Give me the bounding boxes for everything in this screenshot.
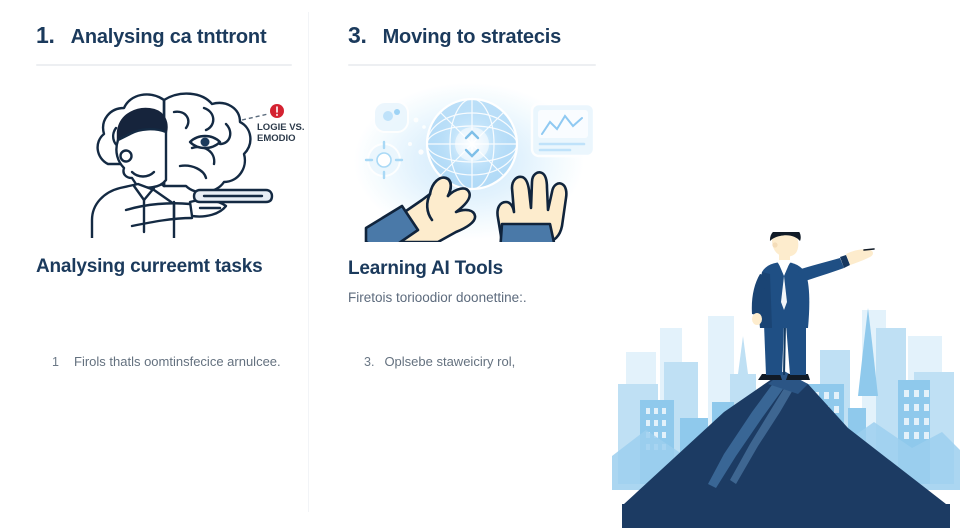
businessman-on-mountain-illustration bbox=[612, 0, 960, 528]
gear-chip-icon bbox=[366, 142, 402, 178]
heading-title: Analysing ca tnttront bbox=[71, 26, 267, 49]
column-analysing-tasks: 1. Analysing ca tnttront bbox=[14, 0, 308, 528]
heading-rule bbox=[348, 64, 596, 66]
heading-title: Moving to stratecis bbox=[383, 26, 561, 49]
ai-hub-icon bbox=[427, 99, 517, 189]
bullet-number: 3. bbox=[364, 352, 374, 373]
column-moving-to-strategy: 3. Moving to stratecis bbox=[326, 0, 612, 528]
bullet-item-left: 1 Firols thatls oomtinsfecice arnulcee. bbox=[74, 352, 290, 373]
mountain-base bbox=[622, 504, 950, 528]
connector-dots bbox=[408, 118, 426, 155]
column-heading-left: 1. Analysing ca tnttront bbox=[36, 22, 300, 49]
person-brain-illustration: LOGIE VS. EMODIO bbox=[14, 86, 308, 238]
right-hand-icon bbox=[497, 172, 566, 242]
infographic-canvas: 1. Analysing ca tnttront bbox=[0, 0, 960, 528]
heading-rule bbox=[36, 64, 292, 66]
bullet-number: 1 bbox=[52, 352, 59, 372]
card-subtitle-middle: Firetois torioodior doonettine:. bbox=[348, 288, 582, 309]
businessman-figure bbox=[752, 232, 874, 380]
badge-label-line1: LOGIE VS. bbox=[257, 122, 305, 133]
card-title-middle: Learning AI Tools bbox=[348, 256, 594, 282]
hands-ai-hub-illustration bbox=[326, 86, 612, 238]
column-heading-middle: 3. Moving to stratecis bbox=[348, 22, 604, 49]
bullet-text: Firols thatls oomtinsfecice arnulcee. bbox=[74, 352, 290, 373]
badge-label-line2: EMODIO bbox=[257, 133, 296, 144]
chart-panel-icon bbox=[532, 104, 594, 156]
bullet-item-middle: 3. Oplsebe staweiciry rol, bbox=[364, 352, 604, 373]
bullet-text: Oplsebe staweiciry rol, bbox=[384, 352, 604, 373]
idea-chip-icon bbox=[374, 102, 408, 132]
heading-number: 3. bbox=[348, 22, 367, 49]
column-divider bbox=[308, 12, 309, 512]
heading-number: 1. bbox=[36, 22, 55, 49]
card-title-left: Analysing curreemt tasks bbox=[36, 254, 290, 280]
